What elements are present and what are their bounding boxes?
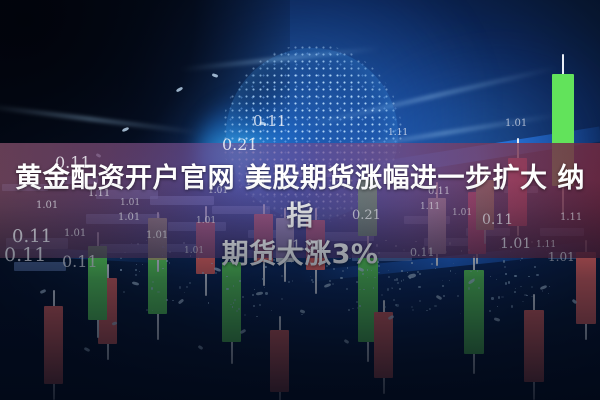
price-number: 1.01: [505, 118, 527, 129]
price-number: 1.11: [388, 128, 408, 138]
news-thumbnail-image: 0.110.211.111.010.111.111.010.110.110.11…: [0, 0, 600, 400]
bottom-vignette: [0, 180, 600, 400]
price-number: 0.11: [253, 112, 286, 130]
price-number: 0.21: [222, 135, 258, 154]
